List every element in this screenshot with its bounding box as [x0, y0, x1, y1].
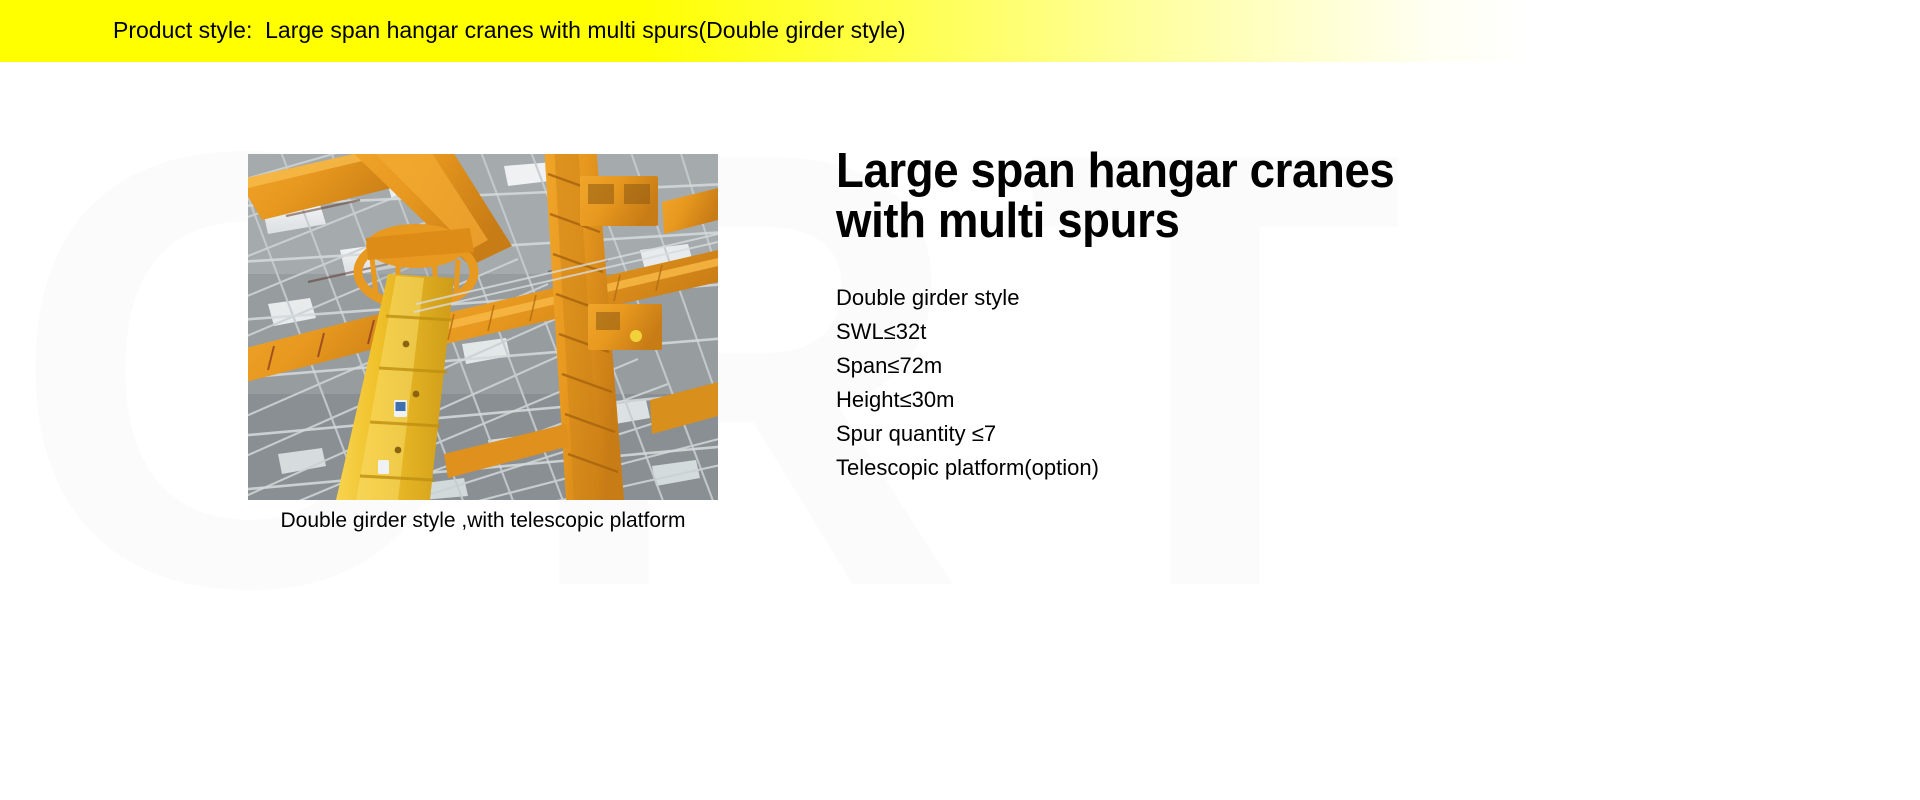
spec-item-swl: SWL≤32t [836, 315, 1596, 349]
spec-item-span: Span≤72m [836, 349, 1596, 383]
spec-item-height: Height≤30m [836, 383, 1596, 417]
photo-block: Double girder style ,with telescopic pla… [248, 154, 718, 533]
product-title: Large span hangar cranes with multi spur… [836, 146, 1543, 246]
spec-list: Double girder style SWL≤32t Span≤72m Hei… [836, 281, 1596, 485]
info-column: Large span hangar cranes with multi spur… [836, 146, 1596, 501]
hangar-crane-photo [248, 154, 718, 500]
spec-item-style: Double girder style [836, 281, 1596, 315]
spec-item-platform: Telescopic platform(option) [836, 451, 1596, 485]
header-banner: Product style: Large span hangar cranes … [0, 0, 1920, 62]
hangar-crane-illustration [248, 154, 718, 500]
spec-item-spur: Spur quantity ≤7 [836, 417, 1596, 451]
slide-content: Double girder style ,with telescopic pla… [0, 0, 1920, 800]
photo-caption: Double girder style ,with telescopic pla… [248, 509, 718, 533]
banner-title: Product style: Large span hangar cranes … [113, 17, 906, 44]
